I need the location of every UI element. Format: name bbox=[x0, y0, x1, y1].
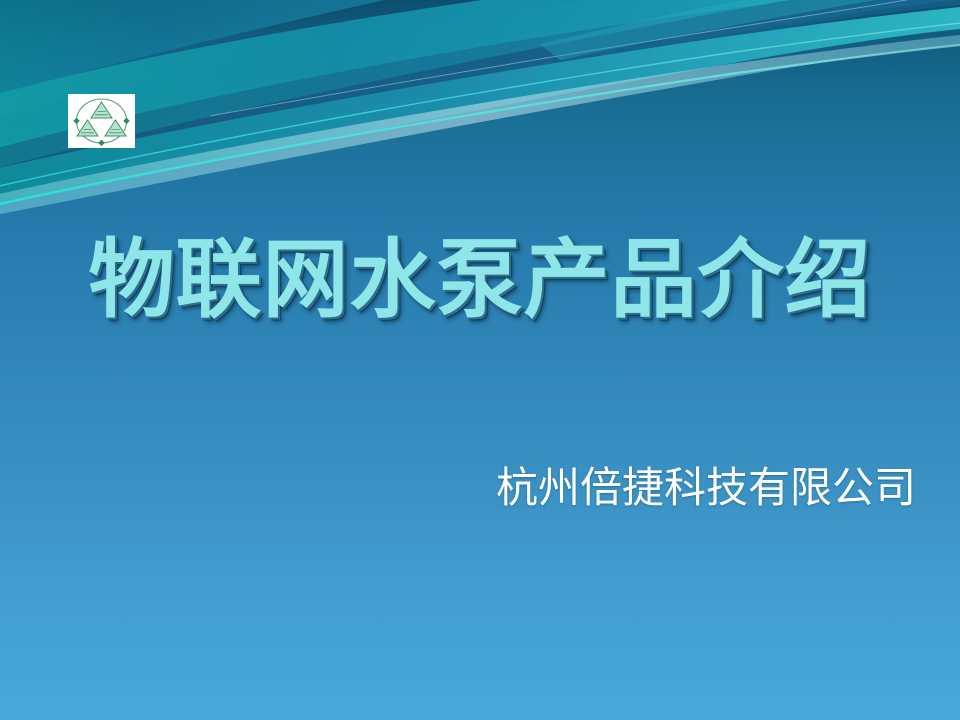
three-pyramids-in-circle-icon bbox=[68, 94, 135, 148]
slide-subtitle: 杭州倍捷科技有限公司 bbox=[0, 462, 916, 514]
title-slide: 物联网水泵产品介绍 杭州倍捷科技有限公司 bbox=[0, 0, 960, 720]
slide-title-text: 物联网水泵产品介绍 bbox=[89, 228, 872, 332]
slide-subtitle-text: 杭州倍捷科技有限公司 bbox=[496, 462, 916, 514]
slide-title: 物联网水泵产品介绍 bbox=[0, 228, 960, 332]
company-logo bbox=[68, 94, 135, 148]
wave-decoration bbox=[0, 0, 960, 720]
